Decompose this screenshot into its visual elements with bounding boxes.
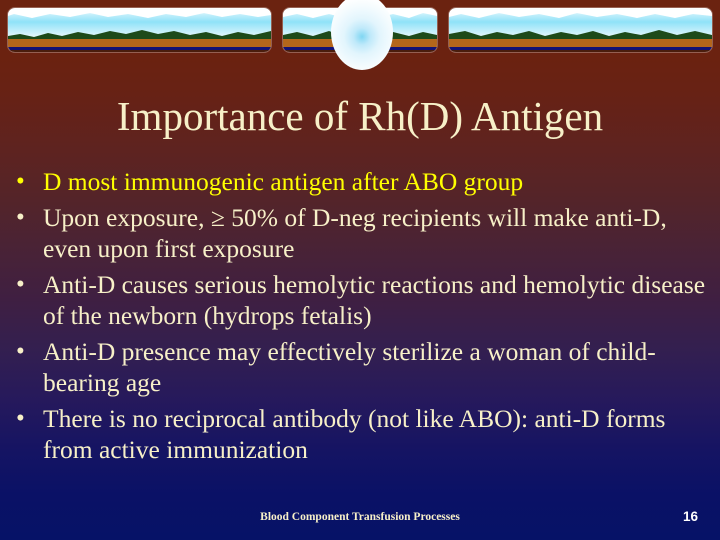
slide-title: Importance of Rh(D) Antigen [0,92,720,140]
list-item: • Anti-D presence may effectively steril… [16,336,706,398]
list-item-label: There is no reciprocal antibody (not lik… [43,403,706,465]
page-number: 16 [683,509,698,524]
slide-canvas: Importance of Rh(D) Antigen • D most imm… [0,0,720,540]
base-line [8,50,271,52]
cloud-band-icon [449,10,712,19]
list-item-label: Anti-D causes serious hemolytic reaction… [43,269,706,331]
footer-title: Blood Component Transfusion Processes [0,511,720,523]
bullet-marker-icon: • [16,336,43,367]
bullet-marker-icon: • [16,202,43,233]
list-item-label: Upon exposure, ≥ 50% of D-neg recipients… [43,202,706,264]
bullet-list: • D most immunogenic antigen after ABO g… [16,166,706,470]
glowing-sun-orb-icon [331,0,393,70]
landscape-panorama-left-icon [8,8,271,52]
list-item: • Upon exposure, ≥ 50% of D-neg recipien… [16,202,706,264]
bullet-marker-icon: • [16,403,43,434]
list-item: • D most immunogenic antigen after ABO g… [16,166,706,197]
bullet-marker-icon: • [16,166,43,197]
list-item: • Anti-D causes serious hemolytic reacti… [16,269,706,331]
header-banner [0,0,720,62]
bullet-marker-icon: • [16,269,43,300]
landscape-panorama-right-icon [449,8,712,52]
cloud-band-icon [8,10,271,19]
list-item-label: D most immunogenic antigen after ABO gro… [43,166,706,197]
list-item: • There is no reciprocal antibody (not l… [16,403,706,465]
list-item-label: Anti-D presence may effectively steriliz… [43,336,706,398]
base-line [449,50,712,52]
